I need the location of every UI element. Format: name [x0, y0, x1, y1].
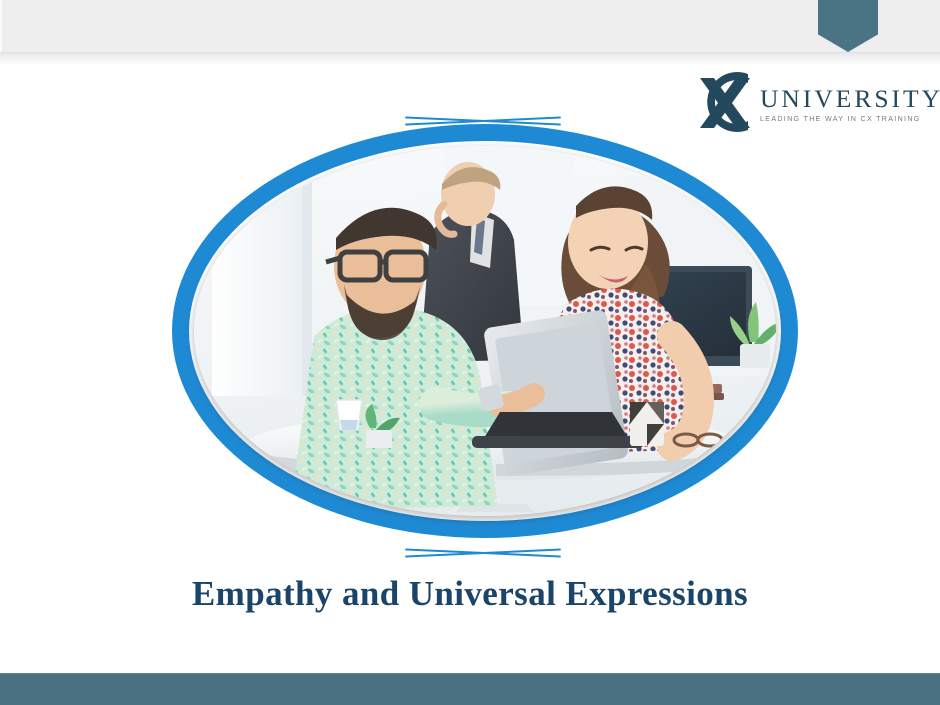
presentation-slide: UNIVERSITY LEADING THE WAY IN CX TRAININ… — [0, 0, 940, 705]
header-shadow — [0, 53, 940, 65]
logo-university-text: UNIVERSITY — [760, 86, 926, 112]
decorative-cross-bottom — [405, 546, 561, 560]
hero-photo — [194, 146, 776, 516]
header-left-edge — [0, 0, 3, 52]
photo-illustration — [194, 146, 776, 516]
footer-bar-highlight — [0, 673, 940, 674]
footer-bar — [0, 673, 940, 705]
header-band — [0, 0, 940, 53]
slide-title: Empathy and Universal Expressions — [0, 574, 940, 614]
oval-photo-assembly — [168, 112, 802, 562]
